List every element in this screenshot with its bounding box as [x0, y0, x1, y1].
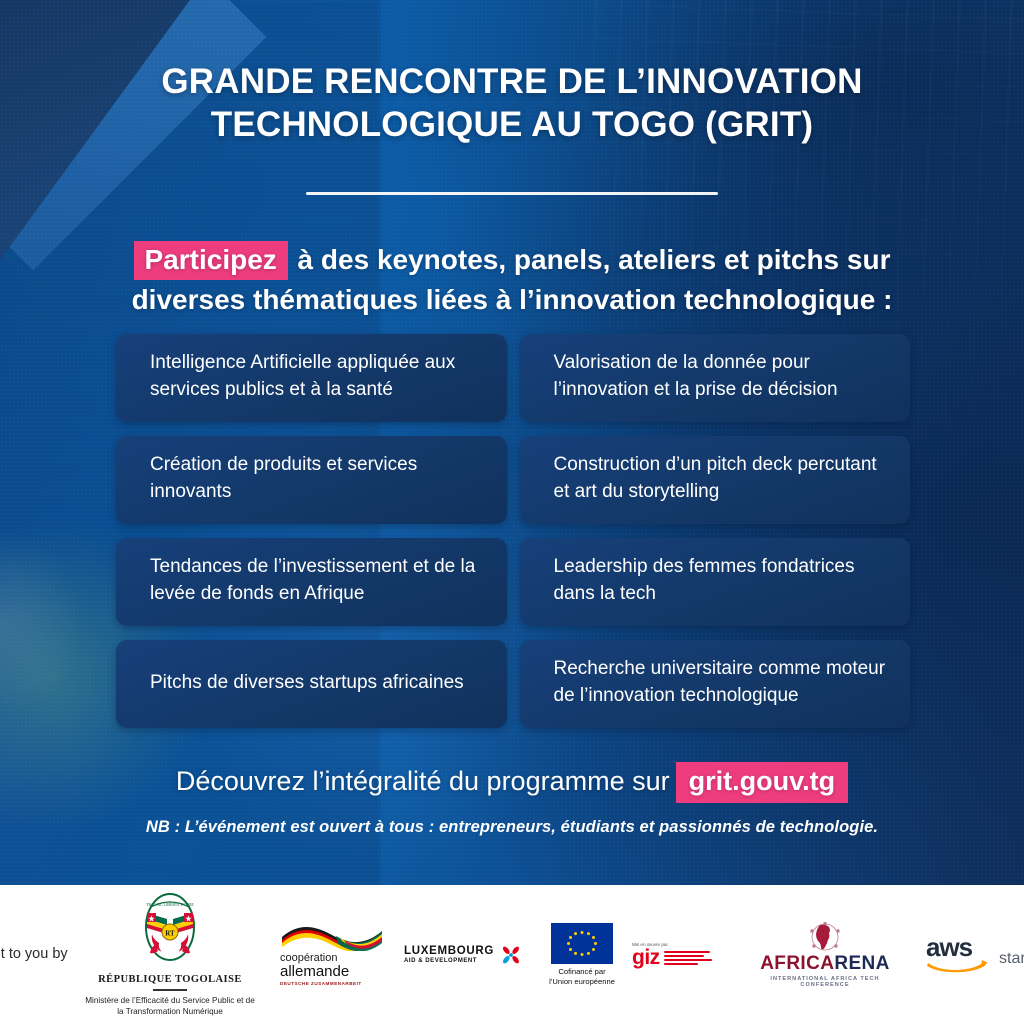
topic-card-label: Recherche universitaire comme moteur de … [554, 656, 889, 709]
note-line: NB : L’événement est ouvert à tous : ent… [0, 818, 1024, 837]
topic-card[interactable]: Pitchs de diverses startups africaines [116, 640, 507, 728]
togo-republic-label: RÉPUBLIQUE TOGOLAISE [82, 974, 258, 985]
togo-coat-of-arms-icon: TRAVAIL LIBERTE PATRIE [137, 891, 203, 971]
german-cooperation-line3: DEUTSCHE ZUSAMMENARBEIT [280, 981, 388, 986]
topic-card[interactable]: Recherche universitaire comme moteur de … [520, 640, 911, 728]
cta-line: Découvrez l’intégralité du programme sur… [0, 762, 1024, 803]
aws-startups-label: startups [999, 950, 1024, 973]
cta-text: Découvrez l’intégralité du programme sur [176, 766, 670, 796]
topic-card[interactable]: Tendances de l’investissement et de la l… [116, 538, 507, 626]
africarena-word-part2: RENA [834, 953, 889, 974]
topic-card-grid: Intelligence Artificielle appliquée aux … [116, 334, 910, 728]
giz-wordmark: giz [632, 949, 660, 967]
luxembourg-petals-icon [500, 941, 522, 969]
aws-smile-arrow-icon [926, 960, 988, 973]
german-cooperation-line2: allemande [280, 964, 388, 980]
topic-card-label: Tendances de l’investissement et de la l… [150, 554, 485, 607]
topic-card-label: Création de produits et services innovan… [150, 452, 485, 505]
topic-card-label: Valorisation de la donnée pour l’innovat… [554, 350, 889, 403]
svg-text:TRAVAIL LIBERTE PATRIE: TRAVAIL LIBERTE PATRIE [146, 902, 194, 907]
brought-by-slot: Brought to you by [0, 945, 72, 965]
topic-card[interactable]: Valorisation de la donnée pour l’innovat… [520, 334, 911, 422]
european-union-slot: Cofinancé par l’Union européenne [522, 923, 628, 987]
european-union-caption: Cofinancé par l’Union européenne [536, 967, 628, 987]
luxembourg-aid-slot: LUXEMBOURG AID & DEVELOPMENT [388, 941, 522, 969]
eu-caption-line1: Cofinancé par [536, 967, 628, 977]
africarena-word-part1: AFRICA [760, 953, 834, 974]
subtitle-highlight: Participez [134, 241, 288, 280]
eu-caption-line2: l’Union européenne [536, 977, 628, 987]
togo-government-slot: TRAVAIL LIBERTE PATRIE [72, 891, 258, 1018]
partner-footer: Brought to you by TRAVAIL LIBERTE PATRIE [0, 885, 1024, 1024]
topic-card-label: Pitchs de diverses startups africaines [150, 670, 464, 697]
aws-startups-slot: aws startups [900, 936, 1024, 973]
german-cooperation-slot: coopération allemande DEUTSCHE ZUSAMMENA… [258, 923, 388, 987]
brought-by-label: Brought to you by [0, 945, 72, 965]
africarena-wordmark: AFRICARENA [750, 954, 900, 973]
africarena-slot: AFRICARENA INTERNATIONAL AFRICA TECH CON… [728, 922, 900, 988]
luxembourg-line2: AID & DEVELOPMENT [404, 958, 494, 964]
poster-subtitle: Participez à des keynotes, panels, ateli… [0, 240, 1024, 320]
topic-card[interactable]: Création de produits et services innovan… [116, 436, 507, 524]
topic-card-label: Intelligence Artificielle appliquée aux … [150, 350, 485, 403]
german-cooperation-line1: coopération [280, 953, 388, 964]
africarena-africa-map-icon [808, 922, 842, 952]
poster-title: GRANDE RENCONTRE DE L’INNOVATION TECHNOL… [0, 60, 1024, 147]
topic-card-label: Leadership des femmes fondatrices dans l… [554, 554, 889, 607]
aws-wordmark: aws [926, 936, 992, 959]
poster-canvas: GRANDE RENCONTRE DE L’INNOVATION TECHNOL… [0, 0, 1024, 1024]
european-union-flag-icon [551, 923, 613, 964]
luxembourg-line1: LUXEMBOURG [404, 945, 494, 958]
german-cooperation-flag-wave-icon [280, 923, 384, 951]
giz-slot: Mis en œuvre par giz [628, 942, 728, 968]
topic-card[interactable]: Intelligence Artificielle appliquée aux … [116, 334, 507, 422]
cta-url-badge[interactable]: grit.gouv.tg [676, 762, 848, 803]
topic-card[interactable]: Construction d’un pitch deck percutant e… [520, 436, 911, 524]
giz-rule-block [664, 949, 712, 968]
topic-card[interactable]: Leadership des femmes fondatrices dans l… [520, 538, 911, 626]
togo-divider [153, 989, 187, 991]
togo-crest-initials: RT [165, 930, 175, 938]
africarena-tagline: INTERNATIONAL AFRICA TECH CONFERENCE [750, 976, 900, 988]
topic-card-label: Construction d’un pitch deck percutant e… [554, 452, 889, 505]
title-divider [306, 192, 718, 195]
togo-ministry-label: Ministère de l’Efficacité du Service Pub… [82, 995, 258, 1018]
